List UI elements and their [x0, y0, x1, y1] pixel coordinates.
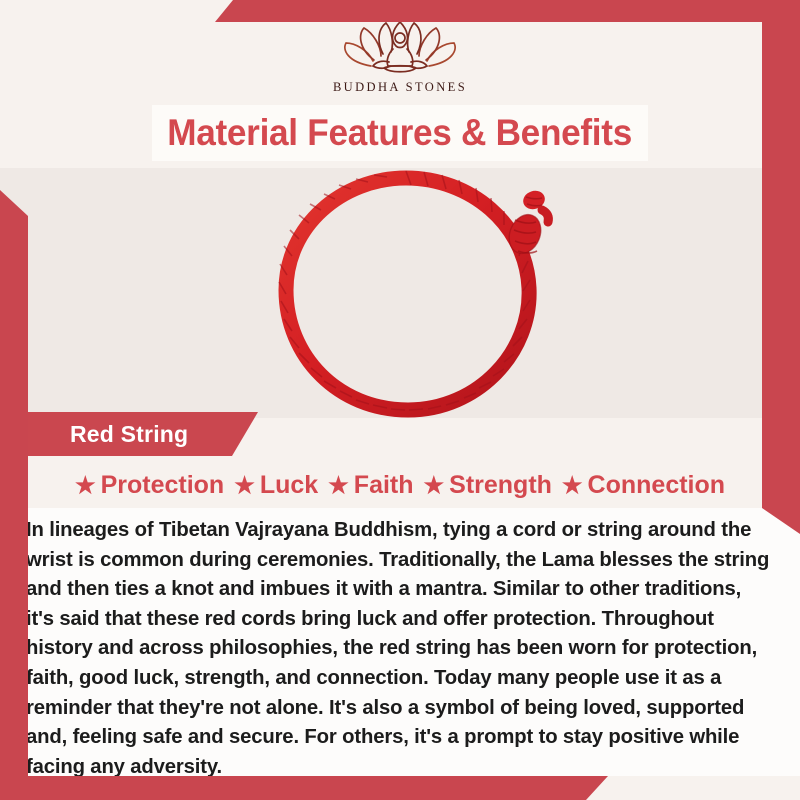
material-ribbon-label: Red String	[70, 421, 188, 448]
star-icon: ★	[328, 474, 349, 497]
feature-list: ★ Protection ★ Luck ★ Faith ★ Strength ★…	[0, 462, 800, 508]
decor-frame-top	[215, 0, 800, 22]
decor-frame-right	[762, 0, 800, 534]
page-title: Material Features & Benefits	[168, 112, 633, 154]
feature-label: Strength	[449, 471, 552, 500]
red-braided-string-bracelet	[238, 168, 568, 418]
feature-item-strength: ★ Strength	[419, 471, 557, 500]
brand-name: BUDDHA STONES	[333, 80, 467, 95]
star-icon: ★	[424, 474, 445, 497]
lotus-meditation-icon	[340, 16, 460, 78]
feature-label: Luck	[260, 471, 318, 500]
title-band: Material Features & Benefits	[152, 105, 648, 161]
material-ribbon: Red String	[18, 412, 258, 456]
feature-item-luck: ★ Luck	[229, 471, 323, 500]
feature-label: Connection	[588, 471, 726, 500]
feature-label: Faith	[354, 471, 414, 500]
decor-frame-bottom	[0, 776, 608, 800]
brand-logo: BUDDHA STONES	[0, 16, 800, 95]
feature-item-protection: ★ Protection	[70, 471, 229, 500]
header: BUDDHA STONES Material Features & Benefi…	[0, 0, 800, 168]
description-text: In lineages of Tibetan Vajrayana Buddhis…	[26, 516, 774, 782]
infographic-page: BUDDHA STONES Material Features & Benefi…	[0, 0, 800, 800]
feature-item-connection: ★ Connection	[557, 471, 730, 500]
star-icon: ★	[234, 474, 255, 497]
material-ribbon-row: Red String	[0, 412, 800, 460]
description-card: In lineages of Tibetan Vajrayana Buddhis…	[0, 508, 800, 776]
star-icon: ★	[562, 474, 583, 497]
feature-label: Protection	[101, 471, 225, 500]
decor-frame-left	[0, 190, 28, 800]
feature-item-faith: ★ Faith	[323, 471, 418, 500]
star-icon: ★	[75, 474, 96, 497]
product-hero-band	[0, 168, 800, 418]
